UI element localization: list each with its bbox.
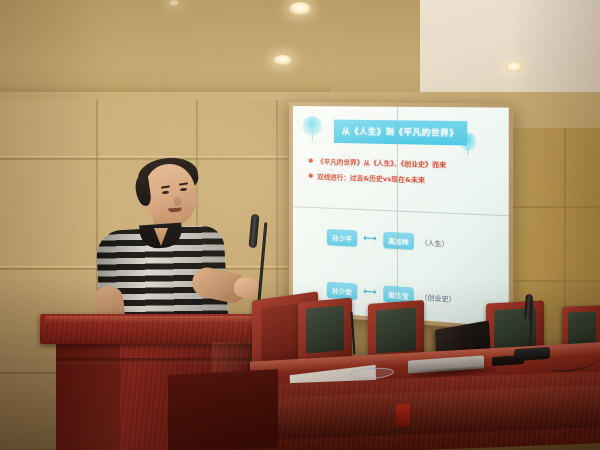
bullet-dot-icon	[309, 174, 313, 178]
chair	[298, 298, 352, 365]
matrix-note: （创业史）	[421, 291, 456, 304]
ceiling-downlight-icon	[505, 62, 523, 72]
tree-trunk-icon	[468, 146, 469, 155]
slide-bullet-text: 双线进行：过去&历史vs现在&未来	[317, 171, 425, 185]
slide-bullet-item: 《平凡的世界》从《人生》、《创业史》而来	[309, 155, 499, 170]
slide-title: 从《人生》到《平凡的世界》	[342, 126, 459, 139]
podium-top-highlight	[46, 316, 284, 323]
ceiling-downlight-icon	[273, 55, 292, 65]
bidirectional-arrow-icon: ⟷	[363, 288, 376, 298]
table-left-section	[168, 369, 278, 450]
slide-bullet-text: 《平凡的世界》从《人生》、《创业史》而来	[317, 156, 446, 170]
table-microphone-base	[514, 347, 550, 362]
slide-title-band: 从《人生》到《平凡的世界》	[334, 120, 468, 145]
matrix-row: 孙少平 ⟷ 高加林 （人生）	[305, 217, 499, 266]
ceiling-downlight-icon	[289, 2, 311, 15]
matrix-right-box: 高加林	[383, 232, 414, 250]
lecture-photo: 从《人生》到《平凡的世界》 《平凡的世界》从《人生》、《创业史》而来 双线进行：…	[0, 0, 600, 450]
table-front-object	[396, 404, 410, 427]
matrix-left-box: 孙少平	[327, 229, 357, 247]
screen-seam-vertical	[397, 107, 398, 319]
screen-seam-horizontal	[293, 206, 509, 216]
projection-screen-frame: 从《人生》到《平凡的世界》 《平凡的世界》从《人生》、《创业史》而来 双线进行：…	[289, 102, 513, 332]
projection-screen: 从《人生》到《平凡的世界》 《平凡的世界》从《人生》、《创业史》而来 双线进行：…	[293, 106, 509, 327]
matrix-note: （人生）	[421, 237, 449, 249]
bullet-dot-icon	[309, 158, 313, 162]
slide-bullet-item: 双线进行：过去&历史vs现在&未来	[309, 171, 499, 187]
speaker-nose	[174, 197, 181, 206]
ceiling-downlight-icon	[169, 0, 179, 6]
speaker-ear	[188, 190, 198, 204]
slide-bullet-list: 《平凡的世界》从《人生》、《创业史》而来 双线进行：过去&历史vs现在&未来	[309, 155, 499, 192]
bidirectional-arrow-icon: ⟷	[363, 234, 376, 244]
tree-trunk-icon	[312, 131, 313, 141]
